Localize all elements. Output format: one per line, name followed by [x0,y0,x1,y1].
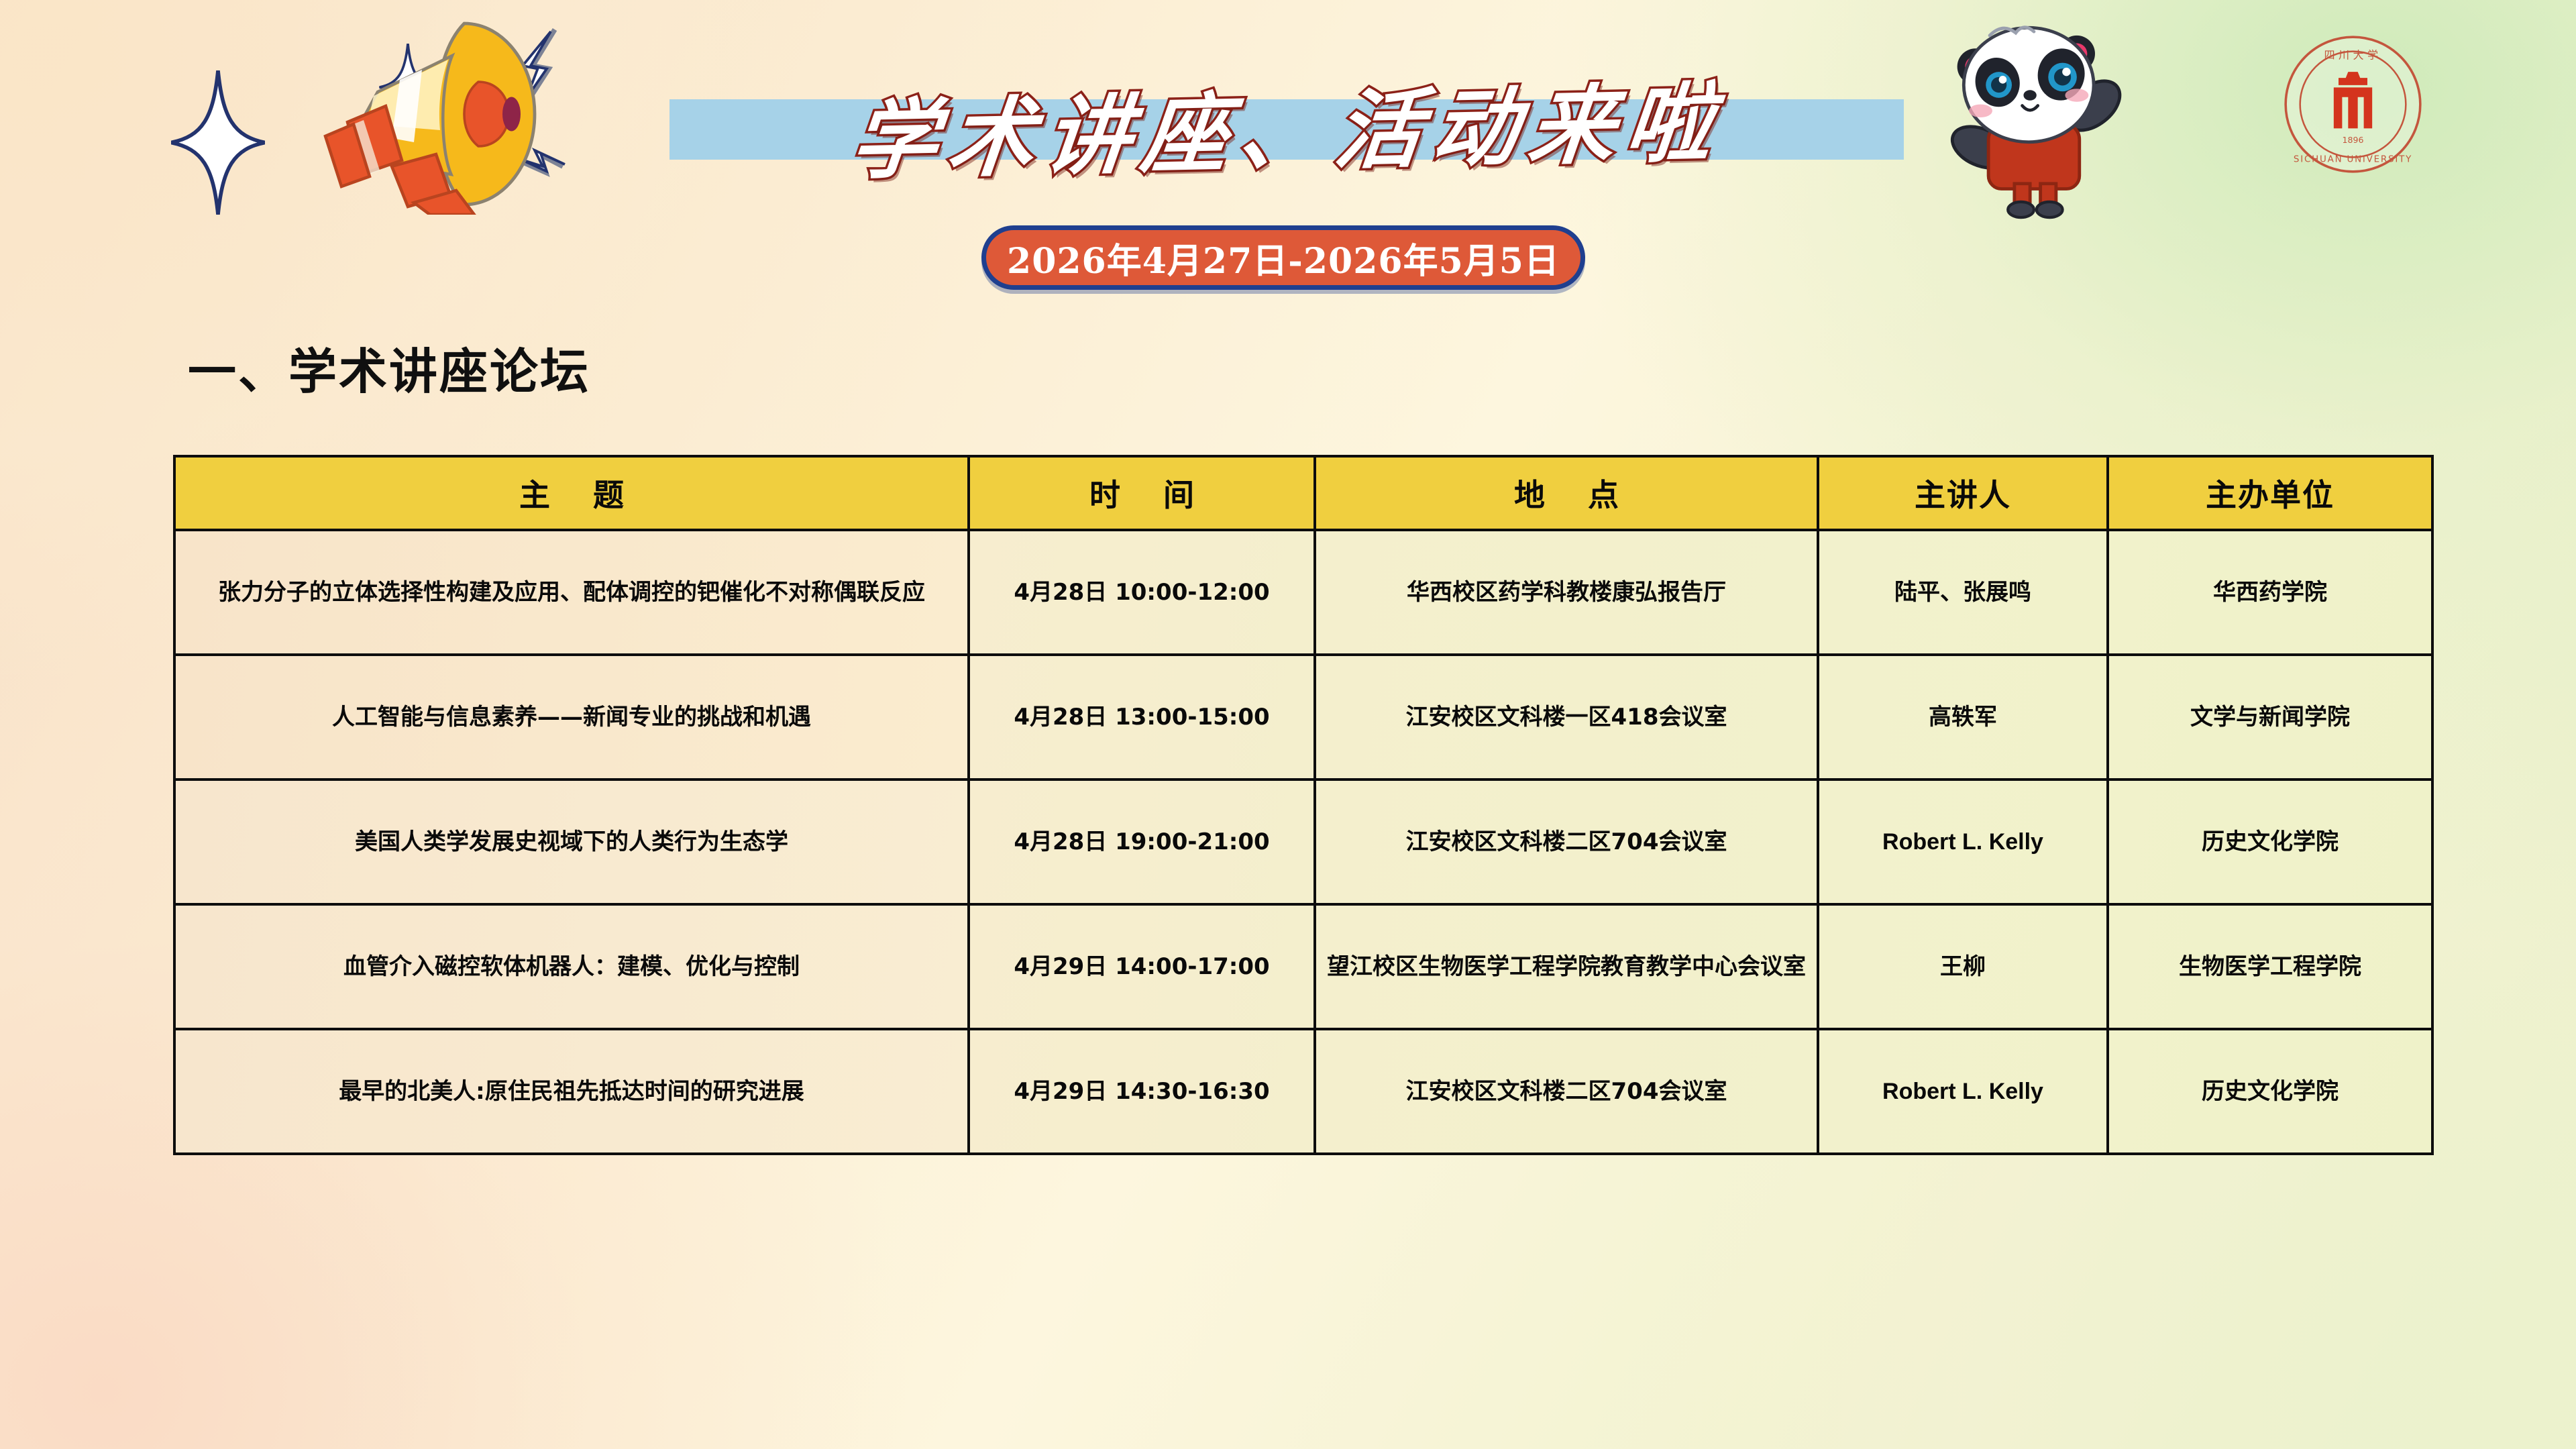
column-header-speaker: 主讲人 [1818,456,2108,530]
table-row: 最早的北美人:原住民祖先抵达时间的研究进展 4月29日 14:30-16:30 … [174,1029,2432,1154]
cell-place: 华西校区药学科教楼康弘报告厅 [1315,530,1818,655]
cell-topic: 人工智能与信息素养——新闻专业的挑战和机遇 [174,655,969,780]
cell-topic: 血管介入磁控软体机器人：建模、优化与控制 [174,904,969,1029]
poster-title: 学术讲座、活动来啦 [657,67,1919,181]
column-header-place: 地 点 [1315,456,1818,530]
cell-time: 4月28日 19:00-21:00 [969,780,1315,904]
column-header-time: 时 间 [969,456,1315,530]
section-heading: 一、学术讲座论坛 [188,332,590,402]
table-row: 张力分子的立体选择性构建及应用、配体调控的钯催化不对称偶联反应 4月28日 10… [174,530,2432,655]
sichuan-university-logo: 1896 四川大学 SICHUAN UNIVERSITY [2274,32,2432,176]
cell-place: 江安校区文科楼二区704会议室 [1315,780,1818,904]
cell-org: 华西药学院 [2108,530,2432,655]
svg-text:SICHUAN UNIVERSITY: SICHUAN UNIVERSITY [2294,155,2412,165]
cell-place: 江安校区文科楼二区704会议室 [1315,1029,1818,1154]
column-header-org: 主办单位 [2108,456,2432,530]
cell-speaker: 陆平、张展鸣 [1818,530,2108,655]
svg-text:四川大学: 四川大学 [2324,48,2382,61]
cell-place: 望江校区生物医学工程学院教育教学中心会议室 [1315,904,1818,1029]
title-text: 学术讲座、活动来啦 [650,54,1926,194]
cell-speaker: 高轶军 [1818,655,2108,780]
table-row: 人工智能与信息素养——新闻专业的挑战和机遇 4月28日 13:00-15:00 … [174,655,2432,780]
cell-time: 4月29日 14:00-17:00 [969,904,1315,1029]
cell-speaker: Robert L. Kelly [1818,1029,2108,1154]
svg-text:1896: 1896 [2343,135,2364,145]
cell-speaker: 王柳 [1818,904,2108,1029]
cell-topic: 最早的北美人:原住民祖先抵达时间的研究进展 [174,1029,969,1154]
lecture-schedule-table: 主 题 时 间 地 点 主讲人 主办单位 张力分子的立体选择性构建及应用、配体调… [173,455,2431,1155]
megaphone-icon [295,13,597,215]
cell-speaker: Robert L. Kelly [1818,780,2108,904]
table-row: 美国人类学发展史视域下的人类行为生态学 4月28日 19:00-21:00 江安… [174,780,2432,904]
sparkle-star-large-icon [171,70,265,215]
table-row: 血管介入磁控软体机器人：建模、优化与控制 4月29日 14:00-17:00 望… [174,904,2432,1029]
poster-canvas: 学术讲座、活动来啦 1896 四川大学 SICHUAN UNIVE [0,0,2576,1449]
panda-mascot-icon [1912,12,2153,220]
column-header-topic: 主 题 [174,456,969,530]
table-header-row: 主 题 时 间 地 点 主讲人 主办单位 [174,456,2432,530]
date-range-text: 2026年4月27日-2026年5月5日 [1007,233,1560,283]
cell-time: 4月28日 13:00-15:00 [969,655,1315,780]
cell-time: 4月28日 10:00-12:00 [969,530,1315,655]
cell-org: 历史文化学院 [2108,780,2432,904]
cell-topic: 美国人类学发展史视域下的人类行为生态学 [174,780,969,904]
cell-org: 生物医学工程学院 [2108,904,2432,1029]
date-range-badge: 2026年4月27日-2026年5月5日 [981,225,1585,290]
cell-org: 历史文化学院 [2108,1029,2432,1154]
cell-topic: 张力分子的立体选择性构建及应用、配体调控的钯催化不对称偶联反应 [174,530,969,655]
cell-org: 文学与新闻学院 [2108,655,2432,780]
cell-time: 4月29日 14:30-16:30 [969,1029,1315,1154]
cell-place: 江安校区文科楼一区418会议室 [1315,655,1818,780]
